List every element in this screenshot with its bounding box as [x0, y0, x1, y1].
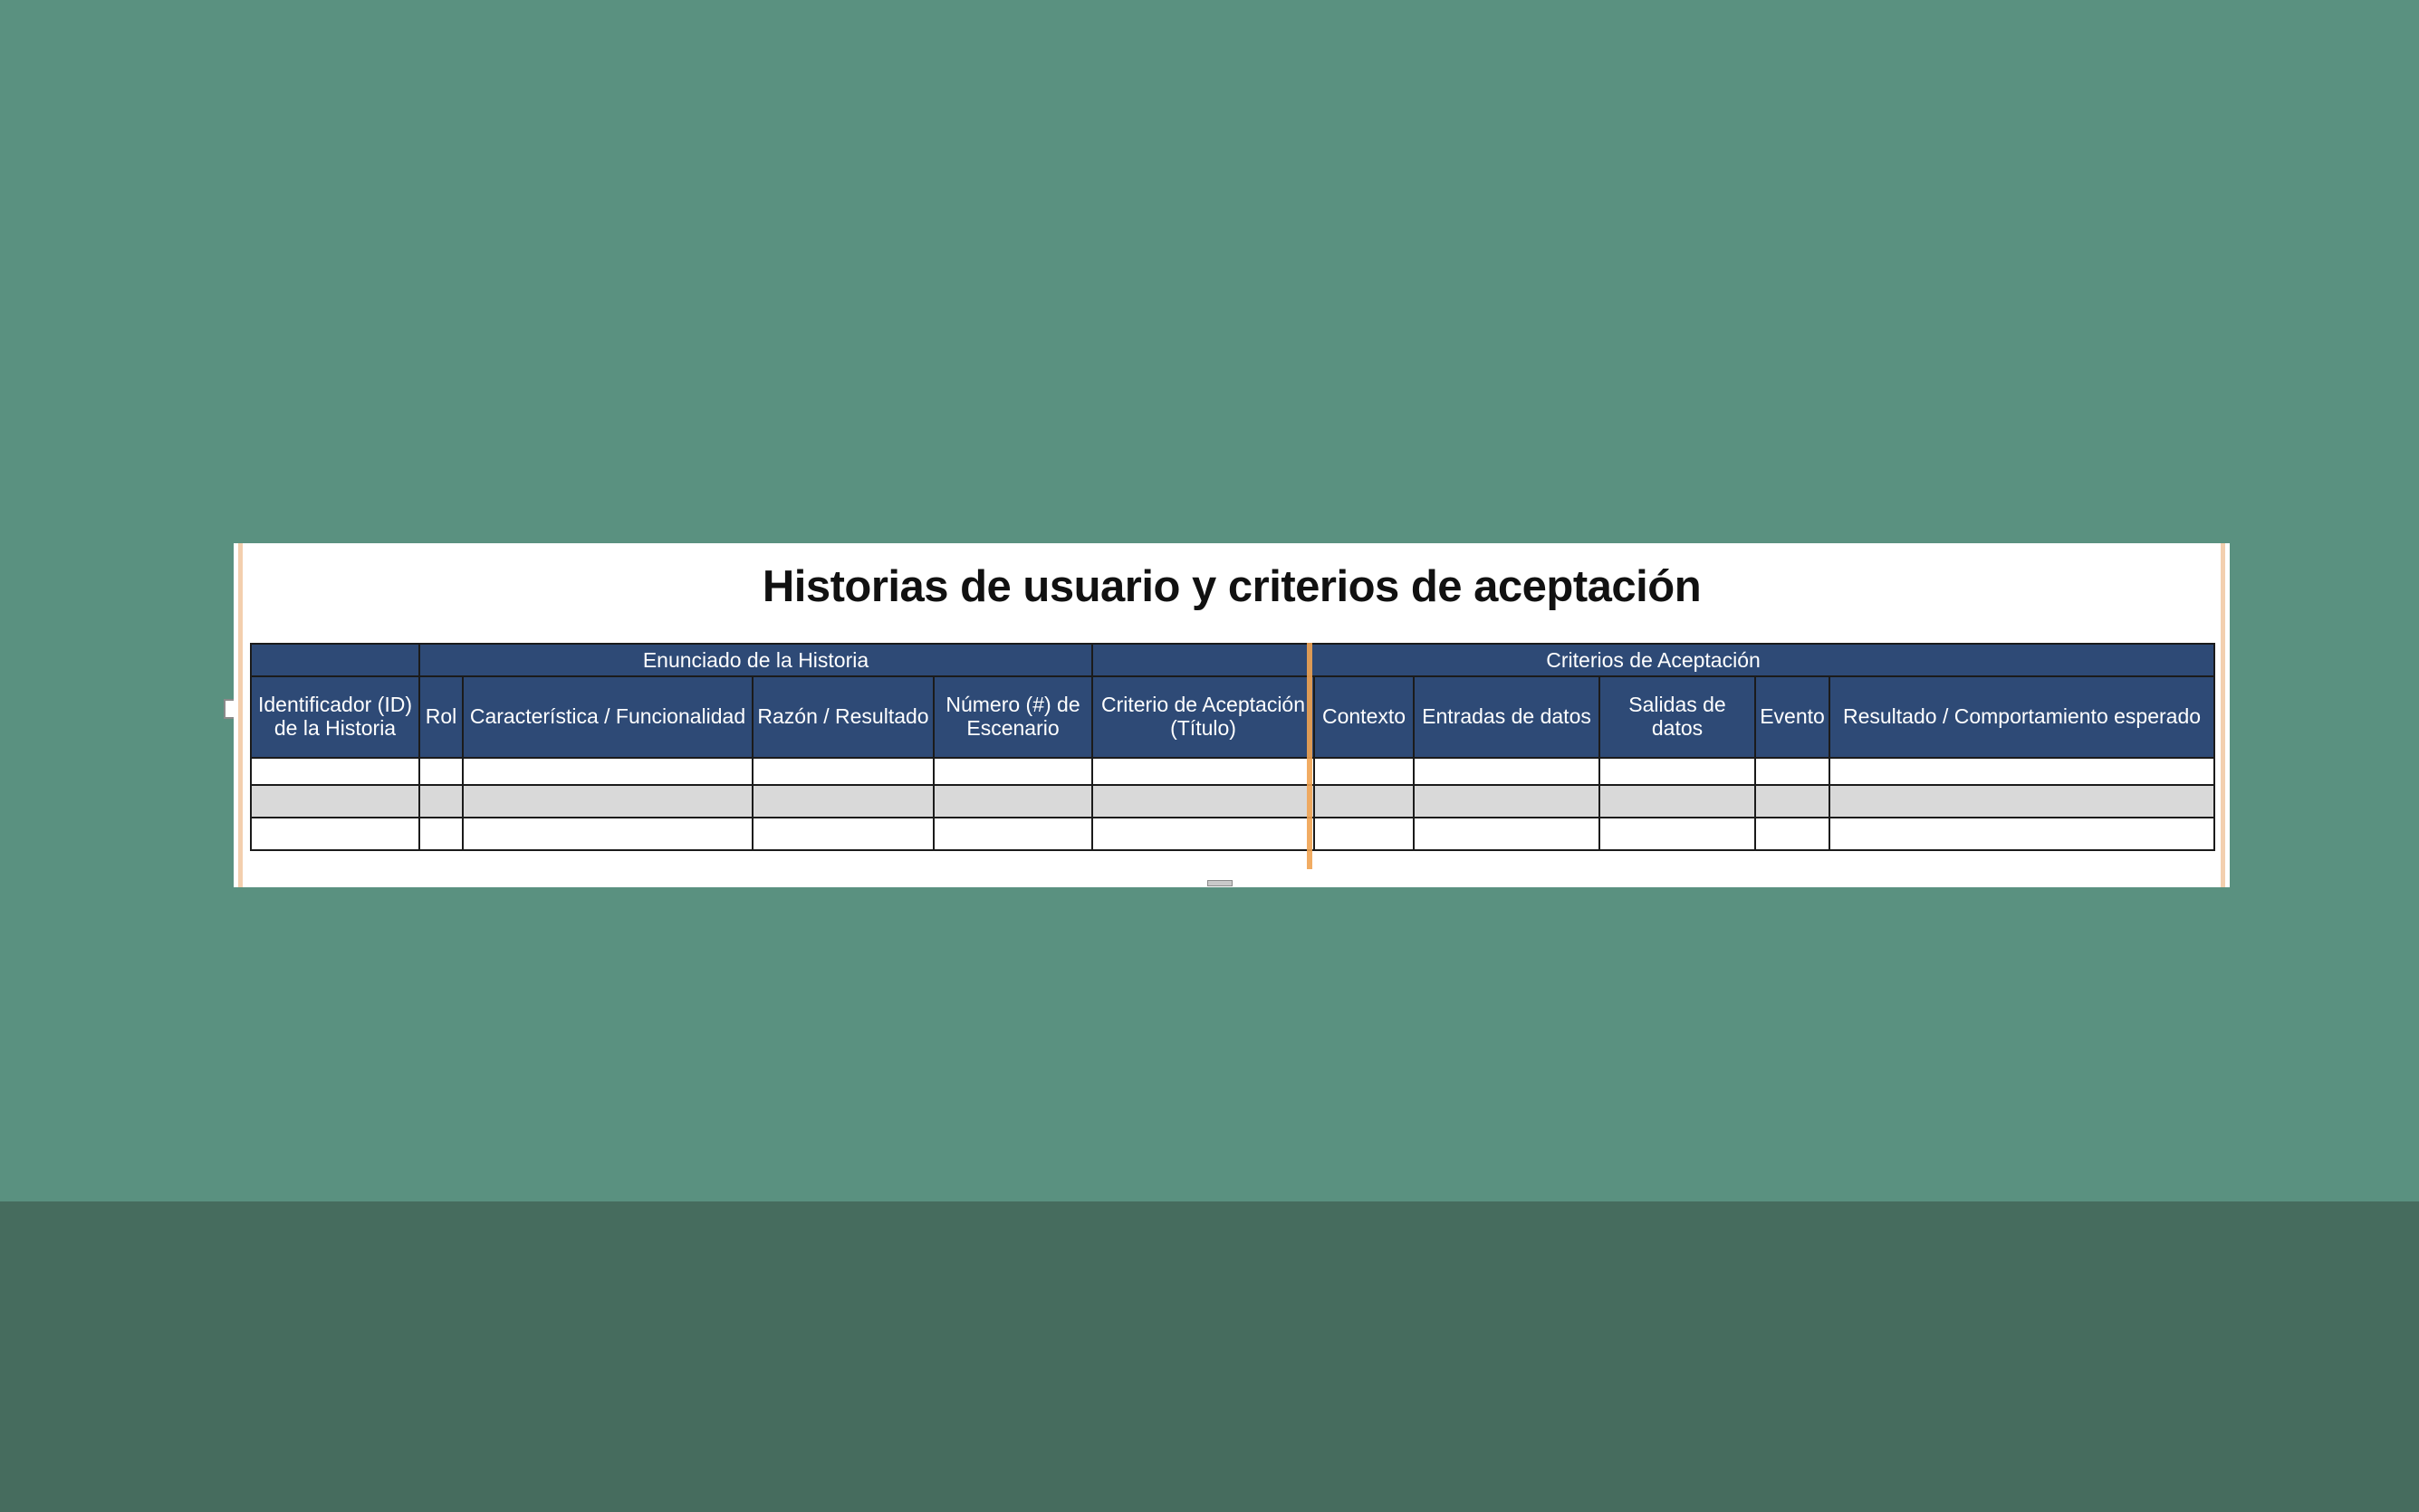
group-header-enunciado: Enunciado de la Historia — [419, 644, 1092, 676]
cell-evento[interactable] — [1755, 818, 1829, 850]
cell-rol[interactable] — [419, 758, 463, 785]
column-header-evento[interactable]: Evento — [1755, 676, 1829, 758]
column-header-identificador[interactable]: Identificador (ID) de la Historia — [251, 676, 419, 758]
embedded-spreadsheet-object[interactable]: Historias de usuario y criterios de acep… — [234, 543, 2230, 887]
cell-contexto[interactable] — [1314, 818, 1414, 850]
cell-identificador[interactable] — [251, 785, 419, 818]
cell-caracteristica[interactable] — [463, 758, 753, 785]
object-resize-handle-bottom[interactable] — [1207, 880, 1233, 886]
column-header-contexto[interactable]: Contexto — [1314, 676, 1414, 758]
cell-criterio-aceptacion[interactable] — [1092, 785, 1314, 818]
cell-resultado-esperado[interactable] — [1829, 785, 2214, 818]
cell-numero-escenario[interactable] — [934, 818, 1092, 850]
cell-numero-escenario[interactable] — [934, 758, 1092, 785]
cell-resultado-esperado[interactable] — [1829, 758, 2214, 785]
column-header-entradas-datos[interactable]: Entradas de datos — [1414, 676, 1599, 758]
cell-contexto[interactable] — [1314, 758, 1414, 785]
column-header-rol[interactable]: Rol — [419, 676, 463, 758]
table-group-header-row: Enunciado de la Historia Criterios de Ac… — [251, 644, 2214, 676]
cell-caracteristica[interactable] — [463, 785, 753, 818]
sheet-title: Historias de usuario y criterios de acep… — [234, 561, 2230, 612]
table-row[interactable] — [251, 818, 2214, 850]
column-header-salidas-datos[interactable]: Salidas de datos — [1599, 676, 1755, 758]
cell-criterio-aceptacion[interactable] — [1092, 818, 1314, 850]
cell-salidas-datos[interactable] — [1599, 785, 1755, 818]
cell-salidas-datos[interactable] — [1599, 818, 1755, 850]
cell-identificador[interactable] — [251, 758, 419, 785]
column-header-resultado-esperado[interactable]: Resultado / Comportamiento esperado — [1829, 676, 2214, 758]
background-band-bottom — [0, 1201, 2419, 1512]
cell-razon[interactable] — [753, 818, 934, 850]
table-body — [251, 758, 2214, 850]
column-header-razon[interactable]: Razón / Resultado — [753, 676, 934, 758]
cell-salidas-datos[interactable] — [1599, 758, 1755, 785]
cell-contexto[interactable] — [1314, 785, 1414, 818]
cell-rol[interactable] — [419, 818, 463, 850]
cell-rol[interactable] — [419, 785, 463, 818]
cell-entradas-datos[interactable] — [1414, 758, 1599, 785]
cell-identificador[interactable] — [251, 818, 419, 850]
cell-caracteristica[interactable] — [463, 818, 753, 850]
table-column-header-row: Identificador (ID) de la Historia Rol Ca… — [251, 676, 2214, 758]
cell-razon[interactable] — [753, 758, 934, 785]
column-header-criterio-aceptacion[interactable]: Criterio de Aceptación (Título) — [1092, 676, 1314, 758]
slide-canvas: Historias de usuario y criterios de acep… — [0, 0, 2419, 1512]
group-header-blank — [251, 644, 419, 676]
cell-numero-escenario[interactable] — [934, 785, 1092, 818]
cell-criterio-aceptacion[interactable] — [1092, 758, 1314, 785]
table-row[interactable] — [251, 758, 2214, 785]
cell-entradas-datos[interactable] — [1414, 818, 1599, 850]
table-row[interactable] — [251, 785, 2214, 818]
cell-evento[interactable] — [1755, 785, 1829, 818]
column-header-caracteristica[interactable]: Característica / Funcionalidad — [463, 676, 753, 758]
user-stories-table[interactable]: Enunciado de la Historia Criterios de Ac… — [250, 643, 2215, 851]
cell-razon[interactable] — [753, 785, 934, 818]
cell-entradas-datos[interactable] — [1414, 785, 1599, 818]
cell-evento[interactable] — [1755, 758, 1829, 785]
column-header-numero-escenario[interactable]: Número (#) de Escenario — [934, 676, 1092, 758]
group-header-criterios: Criterios de Aceptación — [1092, 644, 2214, 676]
cell-resultado-esperado[interactable] — [1829, 818, 2214, 850]
